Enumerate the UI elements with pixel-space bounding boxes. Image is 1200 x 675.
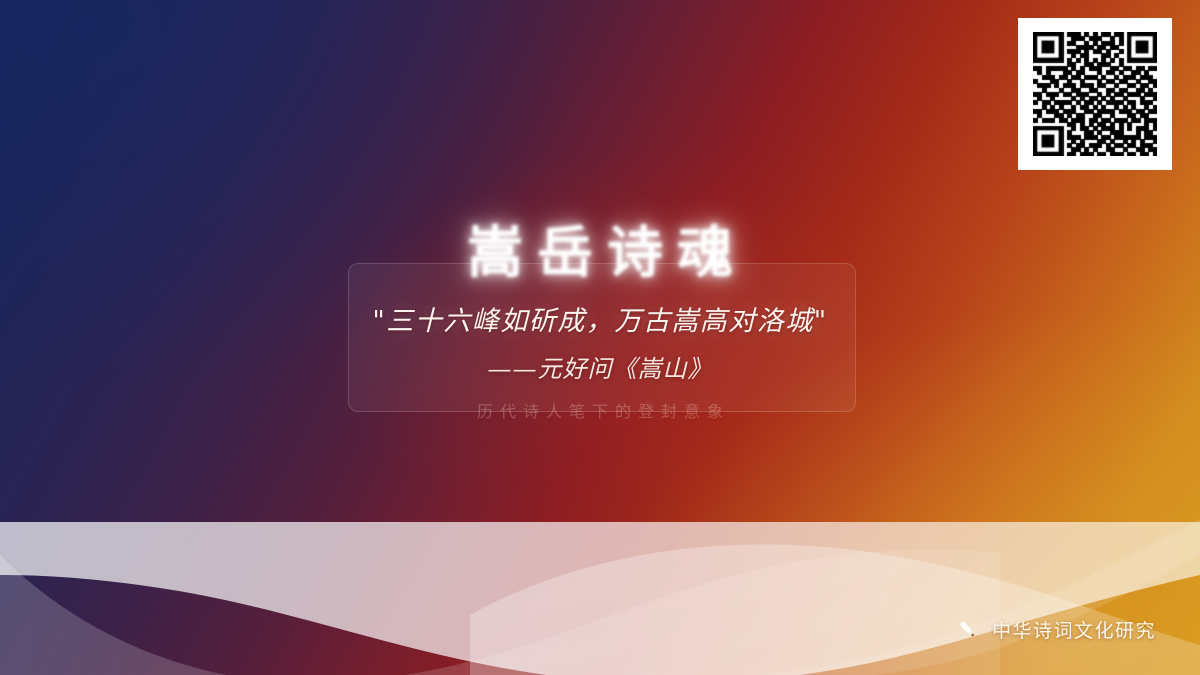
qr-code[interactable] xyxy=(1018,18,1172,170)
poem-quote: "三十六峰如斫成，万古嵩高对洛城" xyxy=(0,299,1200,338)
slide-tagline: 历代诗人笔下的登封意象 xyxy=(0,398,1200,422)
brush-pen-icon xyxy=(955,617,981,643)
page-title: 嵩岳诗魂 xyxy=(0,222,1200,285)
decorative-wave-graphic xyxy=(0,495,1200,675)
qr-code-icon xyxy=(1033,32,1157,156)
presentation-slide: 嵩岳诗魂 "三十六峰如斫成，万古嵩高对洛城" ——元好问《嵩山》 历代诗人笔下的… xyxy=(0,0,1200,675)
brand-footer: 中华诗词文化研究 xyxy=(955,616,1156,643)
brand-name: 中华诗词文化研究 xyxy=(992,616,1156,643)
hero-text-block: 嵩岳诗魂 "三十六峰如斫成，万古嵩高对洛城" ——元好问《嵩山》 历代诗人笔下的… xyxy=(0,222,1200,422)
poem-attribution: ——元好问《嵩山》 xyxy=(0,349,1200,384)
